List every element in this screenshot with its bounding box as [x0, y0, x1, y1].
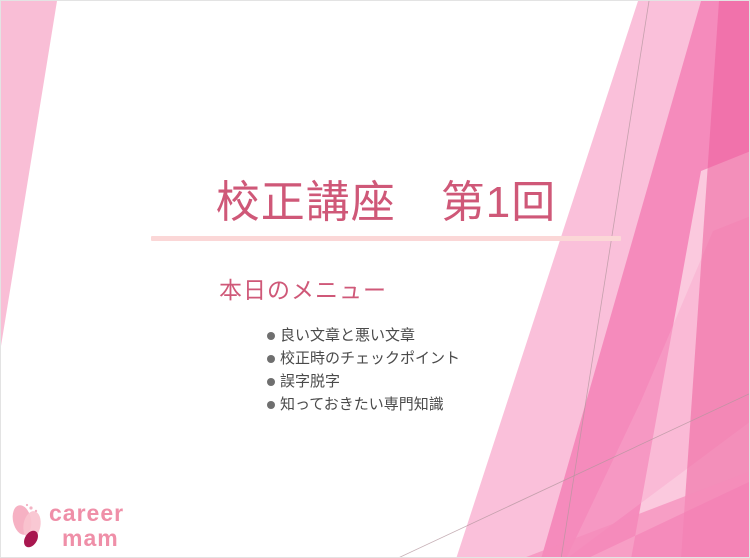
- presentation-slide: 校正講座 第1回 本日のメニュー 良い文章と悪い文章 校正時のチェックポイント …: [0, 0, 750, 558]
- list-item-label: 良い文章と悪い文章: [280, 325, 415, 346]
- bullet-dot-icon: [267, 332, 275, 340]
- logo-wordmark: career mam: [49, 502, 161, 550]
- page-title: 校正講座 第1回: [151, 177, 621, 229]
- list-item-label: 校正時のチェックポイント: [280, 348, 460, 369]
- bullet-dot-icon: [267, 355, 275, 363]
- career-mam-logo: career mam: [11, 501, 161, 551]
- list-item: 誤字脱字: [267, 371, 460, 392]
- slide-content: 校正講座 第1回 本日のメニュー 良い文章と悪い文章 校正時のチェックポイント …: [1, 1, 750, 558]
- list-item-label: 知っておきたい専門知識: [280, 394, 444, 415]
- agenda-bullet-list: 良い文章と悪い文章 校正時のチェックポイント 誤字脱字 知っておきたい専門知識: [267, 325, 460, 417]
- title-divider-rule: [151, 236, 621, 241]
- logo-word-career: career: [49, 502, 161, 525]
- flower-petal-icon: [11, 501, 47, 549]
- list-item: 知っておきたい専門知識: [267, 394, 460, 415]
- list-item-label: 誤字脱字: [280, 371, 340, 392]
- logo-word-mam: mam: [62, 527, 161, 550]
- list-item: 校正時のチェックポイント: [267, 348, 460, 369]
- bullet-dot-icon: [267, 378, 275, 386]
- slide-subtitle: 本日のメニュー: [219, 275, 387, 305]
- list-item: 良い文章と悪い文章: [267, 325, 460, 346]
- bullet-dot-icon: [267, 401, 275, 409]
